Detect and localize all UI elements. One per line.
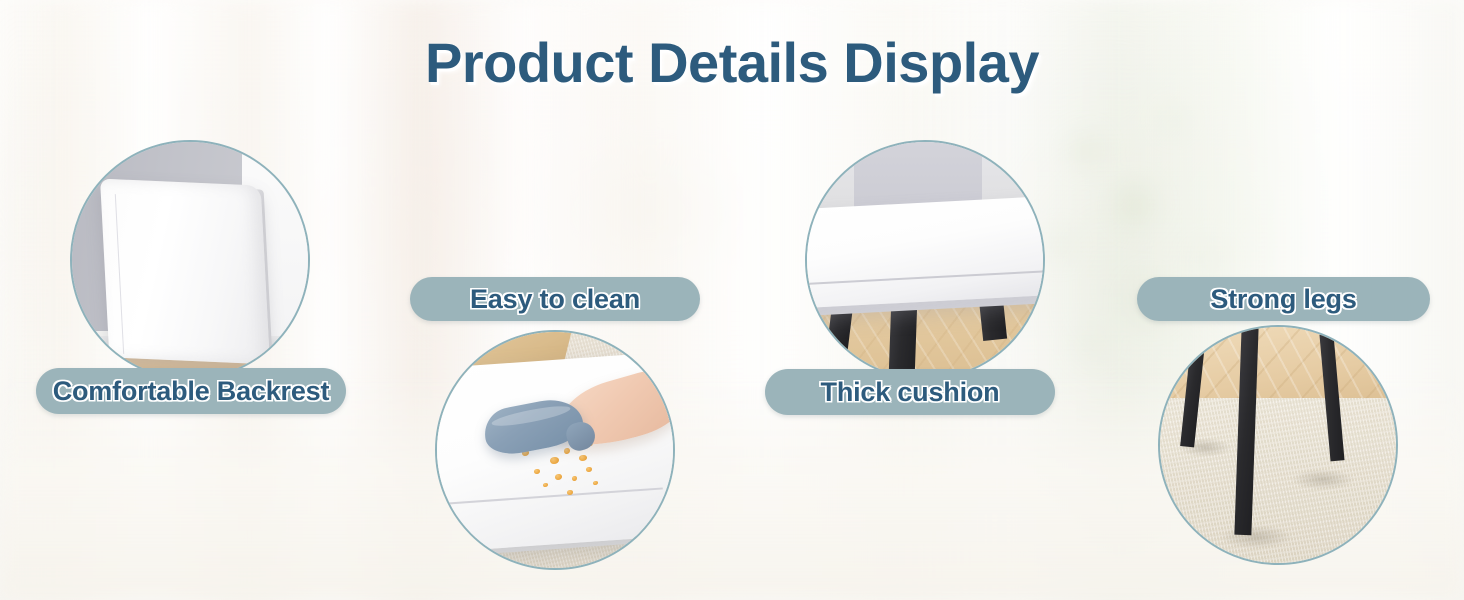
crumb <box>555 474 562 480</box>
feature-label-backrest-text: Comfortable Backrest <box>53 376 330 407</box>
clean-scene <box>437 332 673 568</box>
crumb <box>534 469 540 474</box>
feature-label-easy-to-clean-text: Easy to clean <box>470 284 640 315</box>
crumb <box>593 481 598 485</box>
leg-shadow <box>1221 525 1292 549</box>
feature-label-backrest: Comfortable Backrest <box>36 368 346 414</box>
feature-photo-backrest <box>70 140 310 380</box>
crumb <box>572 476 577 481</box>
feature-photo-thick-cushion <box>805 140 1045 380</box>
legs-scene <box>1160 327 1396 563</box>
crumb <box>579 455 587 461</box>
feature-label-strong-legs: Strong legs <box>1137 277 1430 321</box>
chair-backrest <box>100 179 270 365</box>
crumb <box>586 467 592 472</box>
cushion-scene <box>807 142 1043 378</box>
backrest-scene <box>72 142 308 378</box>
seat-cushion <box>805 197 1045 310</box>
feature-label-thick-cushion-text: Thick cushion <box>821 377 1000 408</box>
feature-label-strong-legs-text: Strong legs <box>1210 284 1356 315</box>
feature-label-easy-to-clean: Easy to clean <box>410 277 700 321</box>
feature-photo-easy-to-clean <box>435 330 675 570</box>
product-details-banner: Product Details Display <box>0 0 1464 600</box>
page-title: Product Details Display <box>0 30 1464 95</box>
leg-shadow <box>1292 469 1353 490</box>
feature-photo-strong-legs <box>1158 325 1398 565</box>
feature-label-thick-cushion: Thick cushion <box>765 369 1055 415</box>
